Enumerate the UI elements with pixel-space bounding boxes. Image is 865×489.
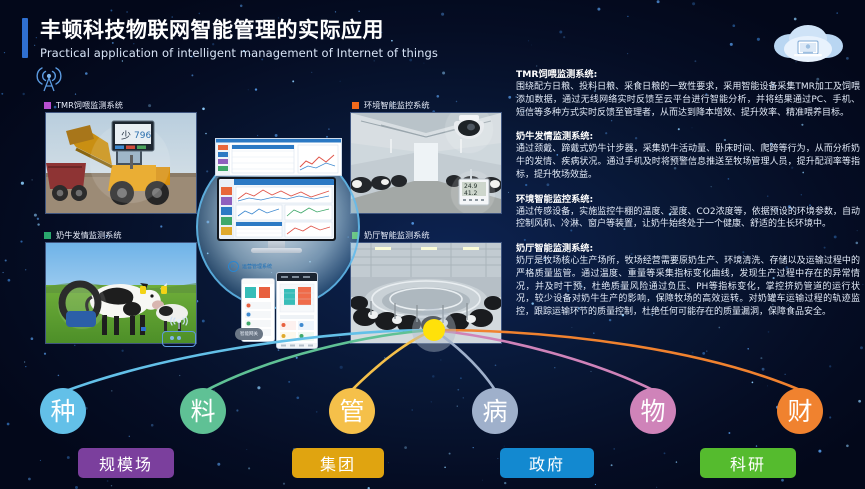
chip-research[interactable]: 科研 (700, 448, 796, 478)
article-section-heading: TMR饲喂监测系统: (516, 66, 860, 80)
article-section-body: 围绕配方日粮、投料日粮、采食日粮的一致性要求，采用智能设备采集TMR加工及饲喂添… (516, 81, 860, 119)
network-node-liao[interactable]: 料 (180, 388, 226, 434)
article-section: 奶牛发情监测系统:通过颈戴、蹄戴式奶牛计步器，采集奶牛活动量、卧床时间、爬跨等行… (516, 128, 860, 181)
chip-label: 集团 (320, 451, 356, 475)
chip-label: 规模场 (99, 451, 153, 475)
node-label: 种 (50, 399, 75, 424)
article-section: 环境智能监控系统:通过传感设备，实施监控牛棚的温度、湿度、CO2浓度等，依据预设… (516, 191, 860, 232)
network-node-zhong[interactable]: 种 (40, 388, 86, 434)
article-section-heading: 环境智能监控系统: (516, 191, 860, 205)
chip-government[interactable]: 政府 (500, 448, 594, 478)
chip-label: 政府 (529, 451, 565, 475)
article-section-body: 通过传感设备，实施监控牛棚的温度、湿度、CO2浓度等，依据预设的环境参数，自动控… (516, 206, 860, 232)
chip-label: 科研 (730, 451, 766, 475)
network-node-cai[interactable]: 财 (777, 388, 823, 434)
article-section: 奶厅智能监测系统:奶厅是牧场核心生产场所，牧场经营需要原奶生产、环境清洗、存储以… (516, 240, 860, 319)
article-section: TMR饲喂监测系统:围绕配方日粮、投料日粮、采食日粮的一致性要求，采用智能设备采… (516, 66, 860, 119)
article-section-body: 通过颈戴、蹄戴式奶牛计步器，采集奶牛活动量、卧床时间、爬跨等行为，从而分析奶牛的… (516, 143, 860, 181)
article-section-heading: 奶厅智能监测系统: (516, 240, 860, 254)
article-panel: TMR饲喂监测系统:围绕配方日粮、投料日粮、采食日粮的一致性要求，采用智能设备采… (516, 66, 860, 328)
node-label: 管 (339, 399, 364, 424)
slide-root: 丰顿科技物联网智能管理的实际应用 Practical application o… (0, 0, 865, 489)
network-node-guan[interactable]: 管 (329, 388, 375, 434)
node-label: 病 (482, 399, 507, 424)
chip-scale-farm[interactable]: 规模场 (78, 448, 174, 478)
network-hub-node (423, 319, 445, 341)
node-label: 财 (787, 399, 812, 424)
network-node-bing[interactable]: 病 (472, 388, 518, 434)
node-label: 料 (190, 399, 215, 424)
article-section-body: 奶厅是牧场核心生产场所，牧场经营需要原奶生产、环境清洗、存储以及运输过程中的严格… (516, 255, 860, 319)
node-label: 物 (640, 399, 665, 424)
chip-group[interactable]: 集团 (292, 448, 384, 478)
article-section-heading: 奶牛发情监测系统: (516, 128, 860, 142)
network-node-wu[interactable]: 物 (630, 388, 676, 434)
